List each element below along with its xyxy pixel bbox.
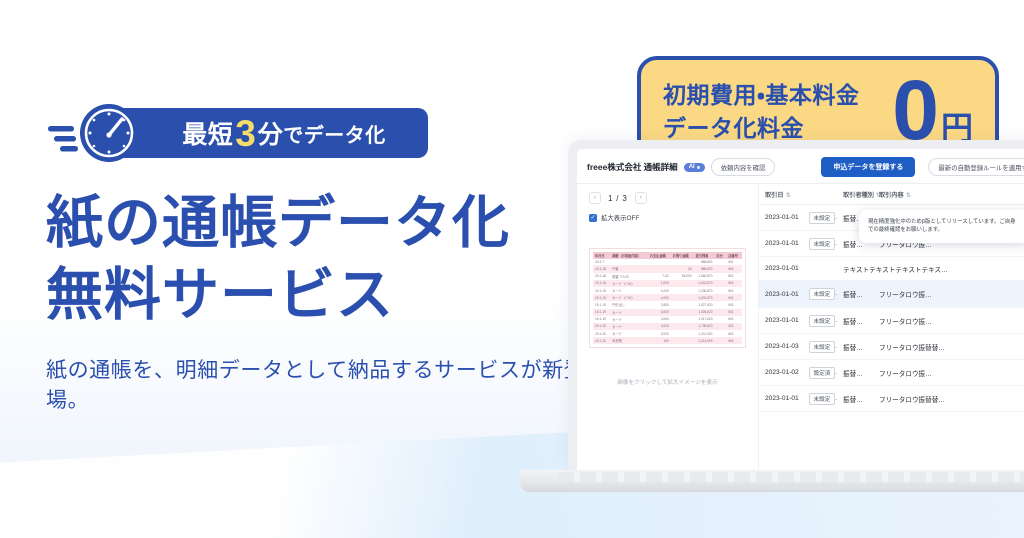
scan-header-cell: 年月日	[593, 252, 610, 259]
scan-cell: カード（ＣＷ）	[610, 294, 648, 301]
zoom-display-label: 拡大表示OFF	[601, 213, 639, 222]
cell-content: フリータロウ振替替…	[873, 386, 1017, 412]
scan-cell	[648, 265, 671, 272]
scan-cell: 1,060,870	[694, 273, 715, 280]
scan-cell: 601	[726, 309, 742, 316]
app-title: freee株式会社 通帳詳細	[587, 161, 678, 173]
price-callout-line-1: 初期費用・基本料金	[663, 79, 859, 112]
laptop-mockup: freee株式会社 通帳詳細 AI 依頼内容を確認 申込データを登録する 最新の…	[568, 140, 1024, 470]
transactions-table-head: 取引日⇅ 取引者種別⇅ 取引内容⇅	[759, 184, 1024, 205]
page-indicator: 1 / 3	[608, 194, 628, 203]
cell-status: 未設定	[803, 334, 837, 360]
scan-cell: 円引出し	[610, 301, 648, 308]
cell-content: フリータロウ振…	[873, 281, 1017, 308]
passbook-scan-image[interactable]: 年月日摘要（お取扱内容）お支払金額お預り金額差引残高区分店番号19-1-7886…	[589, 248, 746, 348]
scan-cell: 1,017,620	[694, 316, 715, 323]
cell-content: フリータロウ振…	[873, 360, 1017, 386]
scan-cell: 年末残	[610, 337, 648, 344]
register-application-data-button[interactable]: 申込データを登録する	[821, 157, 915, 177]
speed-badge-unit: 分	[258, 115, 284, 151]
scan-row: 19-1-19カード3,0001,017,620601	[593, 316, 742, 323]
checkbox-checked-icon: ✓	[589, 214, 597, 222]
scan-cell	[671, 301, 694, 308]
scan-cell: カード	[610, 287, 648, 294]
scan-cell	[671, 330, 694, 337]
passbook-scan-table: 年月日摘要（お取扱内容）お支払金額お預り金額差引残高区分店番号19-1-7886…	[593, 252, 742, 344]
scan-cell	[714, 309, 726, 316]
hero-text-column: 最短 3 分 でデータ化 紙の通帳データ化 無料サービス	[46, 100, 606, 414]
laptop-trackpad	[763, 484, 953, 489]
scan-cell: 601	[726, 323, 742, 330]
speed-clock-icon	[46, 100, 156, 166]
scan-cell: 1,032,870	[694, 294, 715, 301]
scan-row: 19-1-20年末残1501,214,090601	[593, 337, 742, 344]
status-badge[interactable]: 未設定	[809, 212, 835, 224]
app-body: ‹ 1 / 3 › ✓ 拡大表示OFF 年月日摘要（お取扱内容）お支払金額お預り…	[577, 184, 1024, 470]
scan-cell: 1,214,090	[694, 337, 715, 344]
scan-cell: 3,000	[648, 323, 671, 330]
scan-cell: 601	[726, 316, 742, 323]
scan-cell: 150	[648, 337, 671, 344]
ai-badge-label: AI	[689, 164, 695, 170]
table-header-row: 取引日⇅ 取引者種別⇅ 取引内容⇅	[759, 184, 1024, 205]
page-title: 紙の通帳データ化 無料サービス	[46, 188, 606, 332]
scan-cell: 19-1-20	[593, 323, 610, 330]
zoom-display-checkbox[interactable]: ✓ 拡大表示OFF	[585, 211, 750, 222]
col-content[interactable]: 取引内容⇅	[873, 184, 1017, 205]
cell-warning	[1017, 386, 1024, 412]
scan-cell: 65,000	[671, 273, 694, 280]
laptop-keyboard	[558, 472, 1024, 482]
cell-content: フリータロウ振替替…	[873, 334, 1017, 360]
cell-date: 2023-01-01	[759, 257, 803, 281]
scan-header-cell: 区分	[714, 252, 726, 259]
scan-cell: 16	[671, 265, 694, 272]
scan-header-cell: 差引残高	[694, 252, 715, 259]
scan-cell: 19-1-19	[593, 316, 610, 323]
scan-cell: 2,800	[648, 301, 671, 308]
cell-status	[803, 257, 837, 281]
scan-row: 19-1-20カード3,0001,798,820601	[593, 323, 742, 330]
sort-icon: ⇅	[786, 193, 791, 199]
scan-cell	[671, 337, 694, 344]
scan-cell: 4,000	[648, 287, 671, 294]
scan-cell: 601	[726, 265, 742, 272]
scan-cell: 601	[726, 280, 742, 287]
cell-status: 未設定	[803, 231, 837, 257]
cell-kind: 振替ＩＮＢ	[837, 360, 873, 386]
scan-cell: 1,000	[648, 280, 671, 287]
scan-cell: 601	[726, 301, 742, 308]
scan-cell	[714, 287, 726, 294]
scan-cell	[714, 273, 726, 280]
cell-warning	[1017, 360, 1024, 386]
scan-cell: 886,870	[694, 265, 715, 272]
cell-date: 2023-01-01	[759, 386, 803, 412]
scan-cell	[714, 280, 726, 287]
scan-cell: 1,026,620	[694, 309, 715, 316]
scan-cell	[714, 323, 726, 330]
scan-cell	[714, 265, 726, 272]
col-status[interactable]	[803, 184, 837, 205]
scan-cell	[671, 309, 694, 316]
transactions-pane: 取引日⇅ 取引者種別⇅ 取引内容⇅	[759, 184, 1024, 470]
page-subtitle: 紙の通帳を、明細データとして納品するサービスが新登場。	[46, 354, 606, 414]
ai-badge: AI	[684, 163, 705, 172]
scan-cell: 601	[726, 330, 742, 337]
col-date[interactable]: 取引日⇅	[759, 184, 803, 205]
scan-cell	[671, 287, 694, 294]
table-row[interactable]: 2023-01-01未設定振替ＩＮＢフリータロウ振替替…	[759, 386, 1024, 412]
pagination: ‹ 1 / 3 ›	[585, 190, 750, 211]
scan-cell	[714, 294, 726, 301]
price-amount-number: 0	[892, 76, 939, 145]
scan-cell: 1,027,620	[694, 301, 715, 308]
review-request-button[interactable]: 依頼内容を確認	[711, 158, 776, 176]
app-header: freee株式会社 通帳詳細 AI 依頼内容を確認 申込データを登録する 最新の…	[577, 149, 1024, 184]
scan-cell: 19-1-20	[593, 330, 610, 337]
speed-badge: 最短 3 分 でデータ化	[46, 100, 428, 166]
headline-line-2: 無料サービス	[46, 260, 606, 332]
scan-cell: 振替 ＩＮＢ	[610, 273, 648, 280]
cell-date: 2023-01-02	[759, 360, 803, 386]
headline-line-1: 紙の通帳データ化	[46, 188, 606, 260]
scan-cell	[714, 337, 726, 344]
scan-cell: カード	[610, 323, 648, 330]
scan-cell: 1,036,870	[694, 287, 715, 294]
scan-row: 19-1-18カード（ＣＷ）1,0001,042,870601	[593, 280, 742, 287]
speed-badge-suffix: でデータ化	[283, 119, 386, 148]
app-window: freee株式会社 通帳詳細 AI 依頼内容を確認 申込データを登録する 最新の…	[577, 149, 1024, 470]
scan-row: 19-1-18円普16886,870601	[593, 265, 742, 272]
cell-date: 2023-01-01	[759, 308, 803, 334]
cell-warning	[1017, 334, 1024, 360]
col-kind[interactable]: 取引者種別⇅	[837, 184, 873, 205]
apply-latest-auto-rule-button[interactable]: 最新の自動登録ルールを適用す	[928, 158, 1024, 176]
status-badge[interactable]: 未設定	[809, 393, 835, 405]
scan-cell: 19-1-19	[593, 294, 610, 301]
scan-header-cell: 摘要（お取扱内容）	[610, 252, 648, 259]
price-callout-amount: 0 円	[892, 76, 973, 149]
scan-cell: 601	[726, 287, 742, 294]
scan-cell: 19-1-19	[593, 309, 610, 316]
table-row[interactable]: 2023-01-03未設定振替ＩＮＢフリータロウ振替替…	[759, 334, 1024, 360]
scan-cell: 4,000	[648, 294, 671, 301]
scan-cell: 601	[726, 337, 742, 344]
cell-warning: ▲	[1017, 281, 1024, 308]
scan-row: 19-1-19カード3,0001,026,620601	[593, 309, 742, 316]
scan-row: 19-1-19カード4,0001,036,870601	[593, 287, 742, 294]
cell-kind: 振替ＩＮＢ	[837, 334, 873, 360]
col-content-label: 取引内容	[879, 192, 904, 199]
cell-kind: 振替ＩＮＢ	[837, 308, 873, 334]
scan-cell: 7-52	[648, 273, 671, 280]
cell-kind: 振替ＩＮＢ	[837, 281, 873, 308]
cell-date: 2023-01-01	[759, 231, 803, 257]
cell-content: フリータロウ振…	[873, 308, 1017, 334]
speed-badge-number: 3	[233, 115, 258, 152]
scan-cell: 1,211,920	[694, 330, 715, 337]
next-page-button[interactable]: ›	[635, 192, 647, 204]
speed-badge-prefix: 最短	[182, 115, 233, 151]
scan-cell: カード（ＣＷ）	[610, 280, 648, 287]
scan-cell	[671, 323, 694, 330]
scan-header-cell: お預り金額	[671, 252, 694, 259]
scan-cell: 3,000	[648, 309, 671, 316]
status-badge[interactable]: 未設定	[809, 288, 835, 300]
scan-cell: 円普	[610, 265, 648, 272]
status-badge[interactable]: 未設定	[809, 341, 835, 353]
scan-cell: 1,042,870	[694, 280, 715, 287]
cell-warning	[1017, 257, 1024, 281]
table-row[interactable]: 2023-01-01テキストテキストテキストテキス…	[759, 257, 1024, 281]
scan-cell	[671, 280, 694, 287]
cell-status: 未設定	[803, 205, 837, 231]
scan-cell: 19-1-18	[593, 280, 610, 287]
scan-row: 19-1-20カード3,0001,211,920601	[593, 330, 742, 337]
prev-page-button[interactable]: ‹	[589, 192, 601, 204]
scan-cell: カード	[610, 309, 648, 316]
cell-status: 設定済	[803, 360, 837, 386]
scan-cell: 3,000	[648, 316, 671, 323]
cell-warning: ▲	[1017, 308, 1024, 334]
scan-cell: 3,000	[648, 330, 671, 337]
ai-badge-dot-icon	[697, 166, 700, 169]
status-badge[interactable]: 未設定	[809, 315, 835, 327]
col-kind-label: 取引者種別	[843, 192, 874, 199]
scan-cell: 1,798,820	[694, 323, 715, 330]
scan-cell: 19-1-18	[593, 265, 610, 272]
scan-cell	[714, 301, 726, 308]
scan-caption: 画像をクリックして拡大イメージを表示	[585, 378, 750, 386]
beta-notice-tooltip: 現在精度強化中のためβ版としてリリースしています。ご自身での最終確認をお願いしま…	[859, 210, 1024, 243]
scan-cell: 19-1-18	[593, 273, 610, 280]
cell-status: 未設定	[803, 308, 837, 334]
cell-date: 2023-01-01	[759, 281, 803, 308]
scan-cell: カード	[610, 330, 648, 337]
cell-kind: テキストテキストテキストテキス…	[837, 257, 1017, 281]
scan-cell: 601	[726, 294, 742, 301]
cell-date: 2023-01-01	[759, 205, 803, 231]
scan-header-cell: 店番号	[726, 252, 742, 259]
scan-cell: 601	[726, 273, 742, 280]
status-badge[interactable]: 未設定	[809, 238, 835, 250]
document-preview-pane: ‹ 1 / 3 › ✓ 拡大表示OFF 年月日摘要（お取扱内容）お支払金額お預り…	[577, 184, 759, 470]
scan-row: 19-1-19円引出し2,8001,027,620601	[593, 301, 742, 308]
table-row[interactable]: 2023-01-01未設定振替ＩＮＢフリータロウ振…▲	[759, 308, 1024, 334]
laptop-screen: freee株式会社 通帳詳細 AI 依頼内容を確認 申込データを登録する 最新の…	[568, 140, 1024, 470]
table-row[interactable]: 2023-01-02設定済振替ＩＮＢフリータロウ振…	[759, 360, 1024, 386]
cell-status: 未設定	[803, 281, 837, 308]
scan-cell	[714, 330, 726, 337]
scan-header-cell: お支払金額	[648, 252, 671, 259]
sort-icon: ⇅	[906, 193, 911, 199]
col-date-label: 取引日	[765, 192, 784, 199]
scan-cell: 19-1-19	[593, 287, 610, 294]
scan-cell	[671, 294, 694, 301]
scan-cell: カード	[610, 316, 648, 323]
price-callout-labels: 初期費用・基本料金 データ化料金	[663, 79, 859, 144]
scan-row: 19-1-19カード（ＣＷ）4,0001,032,870601	[593, 294, 742, 301]
cell-kind: 振替ＩＮＢ	[837, 386, 873, 412]
cell-status: 未設定	[803, 386, 837, 412]
table-row[interactable]: 2023-01-01未設定振替ＩＮＢフリータロウ振…▲	[759, 281, 1024, 308]
scan-header-row: 年月日摘要（お取扱内容）お支払金額お預り金額差引残高区分店番号	[593, 252, 742, 259]
scan-cell: 19-1-19	[593, 301, 610, 308]
cell-date: 2023-01-03	[759, 334, 803, 360]
scan-cell: 19-1-20	[593, 337, 610, 344]
scan-cell	[671, 316, 694, 323]
col-warning	[1017, 184, 1024, 205]
scan-row: 19-1-18振替 ＩＮＢ7-5265,0001,060,870601	[593, 273, 742, 280]
scan-cell	[714, 316, 726, 323]
status-badge[interactable]: 設定済	[809, 367, 835, 379]
